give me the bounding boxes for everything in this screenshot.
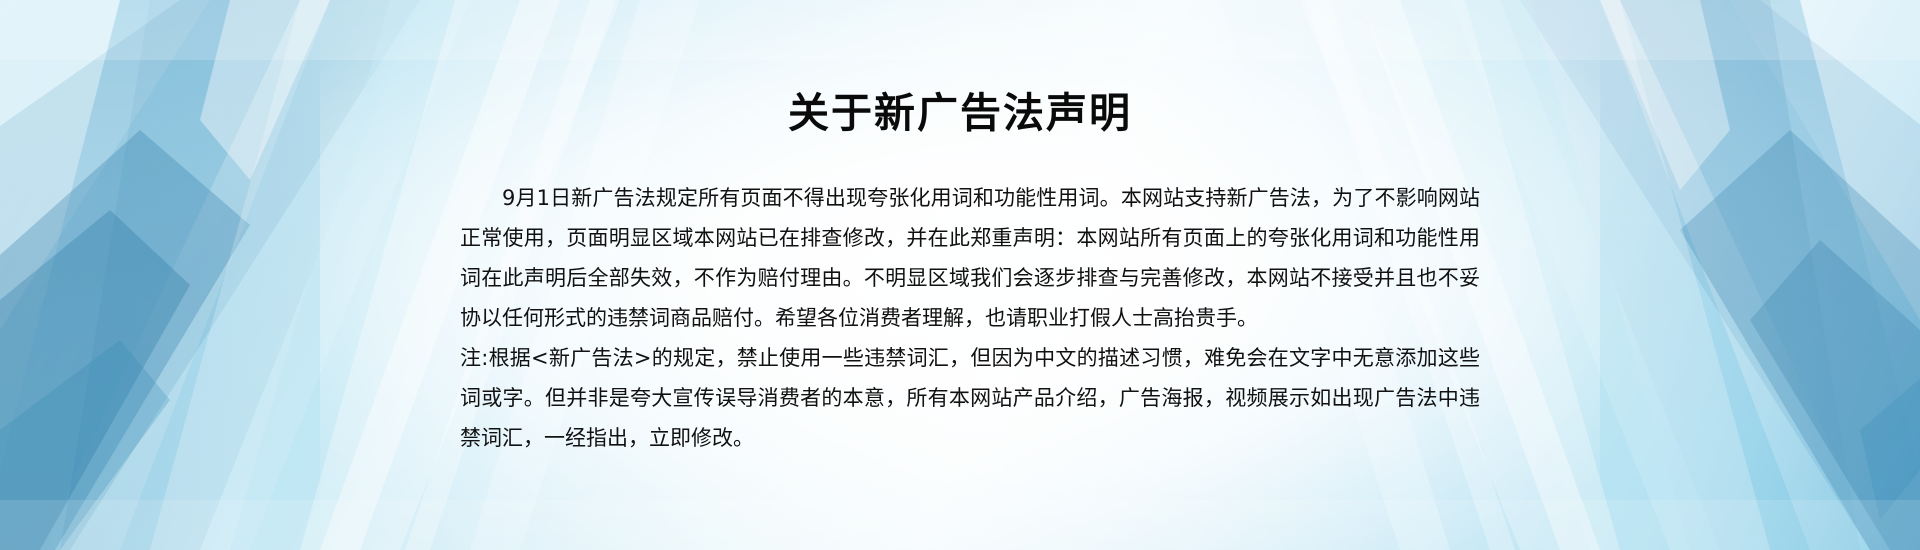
- page-title: 关于新广告法声明: [0, 88, 1920, 138]
- statement-paragraph-1: 9月1日新广告法规定所有页面不得出现夸张化用词和功能性用词。本网站支持新广告法，…: [460, 178, 1480, 338]
- advertising-law-statement-banner: 关于新广告法声明 9月1日新广告法规定所有页面不得出现夸张化用词和功能性用词。本…: [0, 0, 1920, 550]
- statement-paragraph-2: 注:根据<新广告法>的规定，禁止使用一些违禁词汇，但因为中文的描述习惯，难免会在…: [460, 338, 1480, 458]
- banner-content: 关于新广告法声明 9月1日新广告法规定所有页面不得出现夸张化用词和功能性用词。本…: [0, 0, 1920, 550]
- statement-body: 9月1日新广告法规定所有页面不得出现夸张化用词和功能性用词。本网站支持新广告法，…: [460, 178, 1480, 458]
